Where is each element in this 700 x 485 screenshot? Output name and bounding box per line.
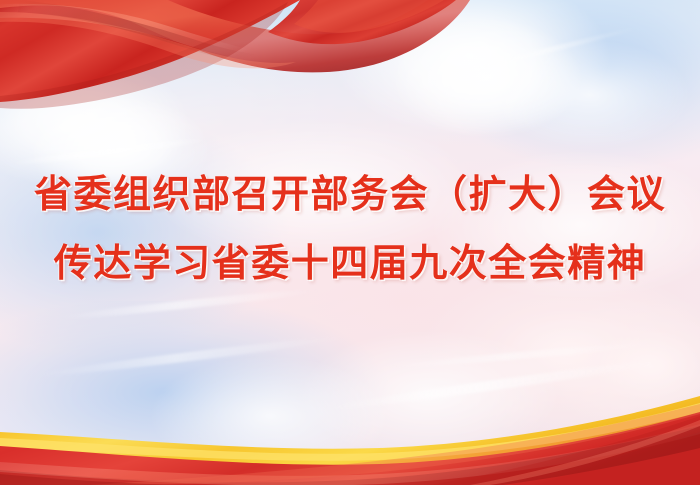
poster-title: 省委组织部召开部务会（扩大）会议 传达学习省委十四届九次全会精神 (0, 160, 700, 298)
title-line-1: 省委组织部召开部务会（扩大）会议 (0, 160, 700, 229)
bottom-ribbon-group (0, 396, 700, 485)
poster-banner: 省委组织部召开部务会（扩大）会议 传达学习省委十四届九次全会精神 (0, 0, 700, 485)
top-ribbon-group (0, 0, 470, 109)
title-line-2: 传达学习省委十四届九次全会精神 (0, 229, 700, 298)
